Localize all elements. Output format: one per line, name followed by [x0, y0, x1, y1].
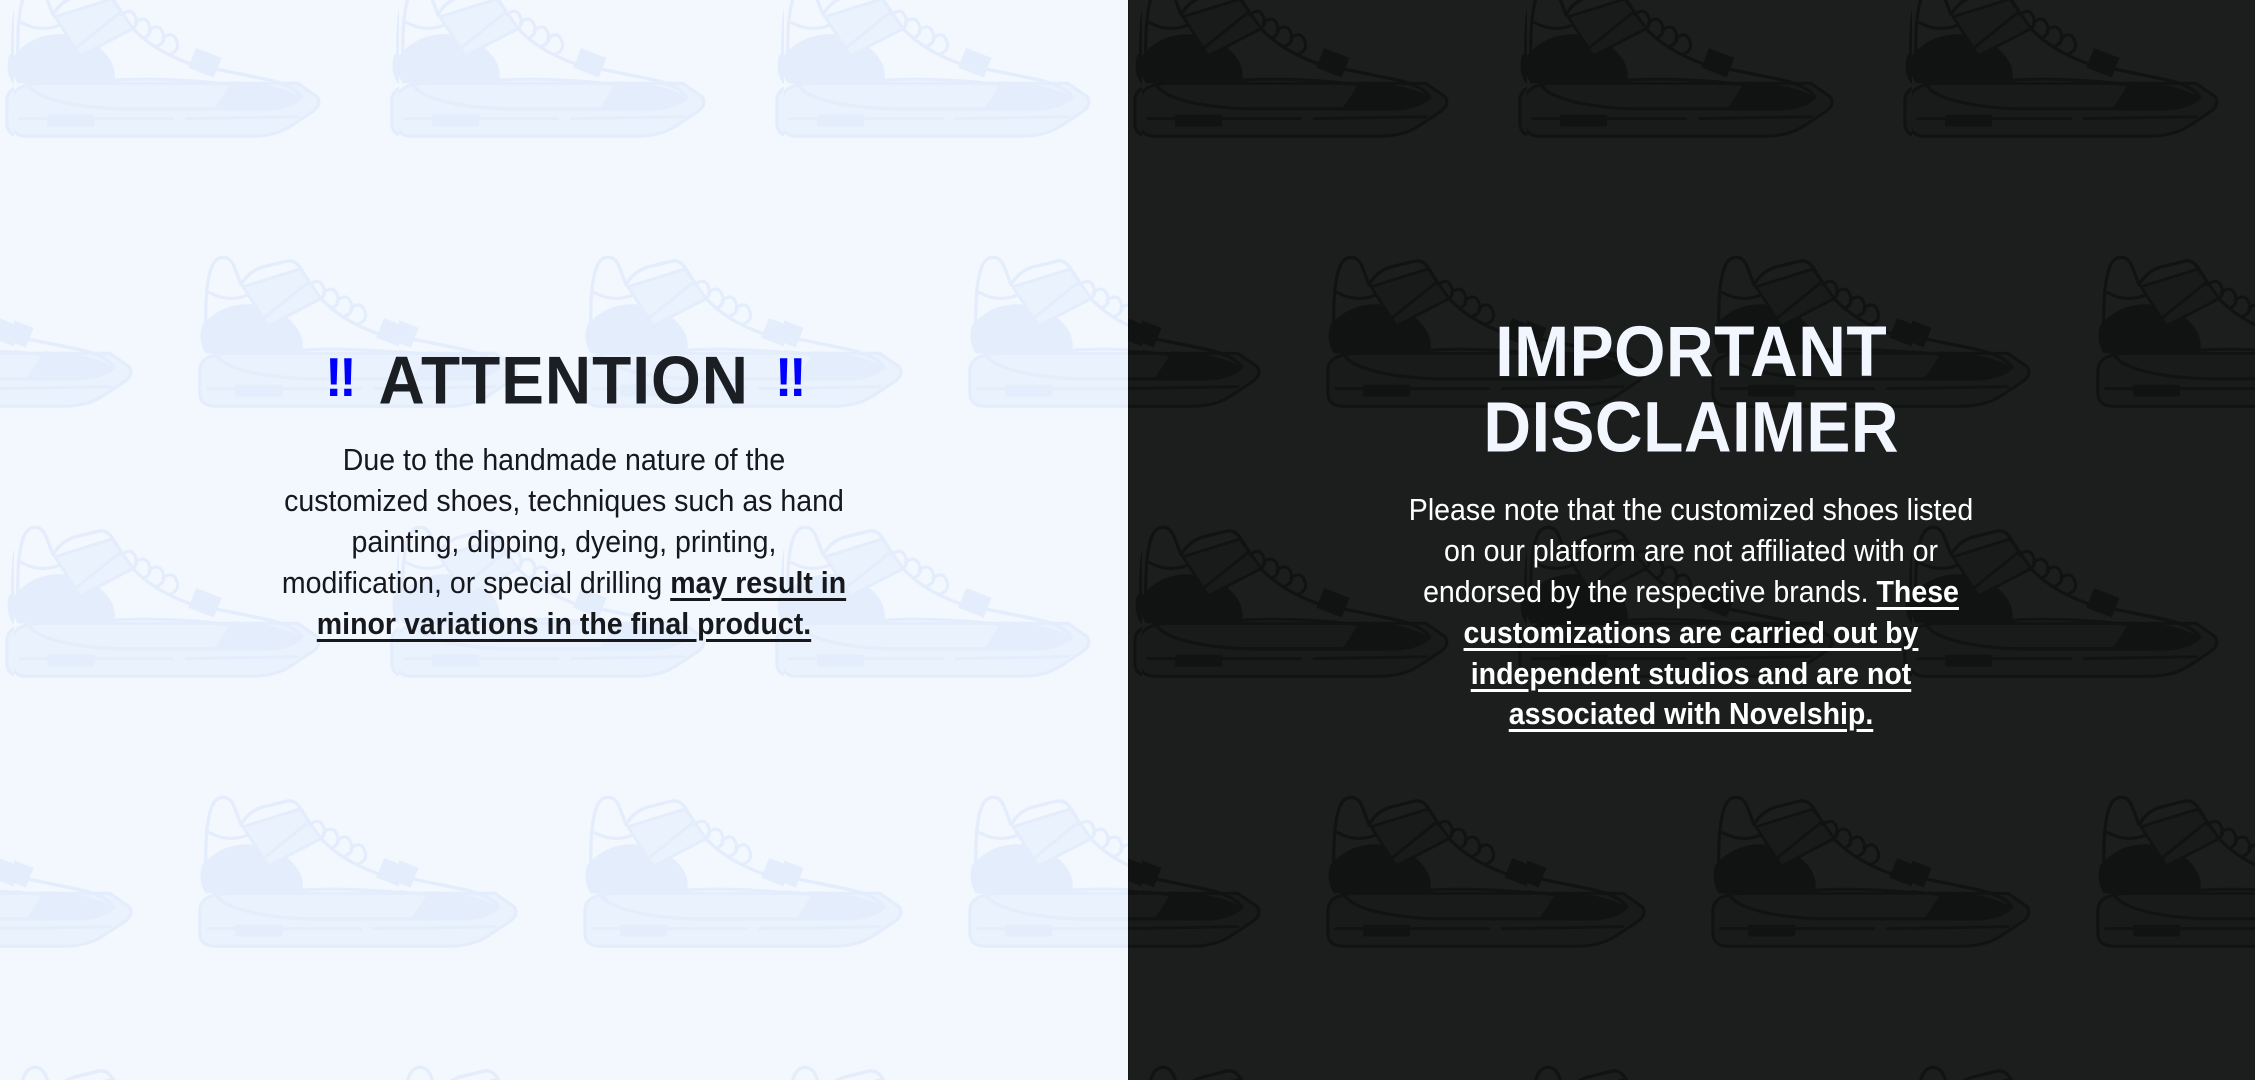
disclaimer-heading-line2: DISCLAIMER: [1483, 387, 1899, 467]
disclaimer-content: IMPORTANTDISCLAIMER Please note that the…: [1128, 0, 2255, 1080]
attention-panel: ‼ ATTENTION ‼ Due to the handmade nature…: [0, 0, 1128, 1080]
double-exclamation-icon-right: ‼: [775, 350, 802, 405]
disclaimer-heading-line1: IMPORTANT: [1495, 311, 1887, 391]
double-exclamation-icon-left: ‼: [325, 350, 352, 405]
attention-heading-label: ATTENTION: [379, 346, 749, 414]
important-disclaimer-panel: IMPORTANTDISCLAIMER Please note that the…: [1128, 0, 2255, 1080]
disclaimer-body: Please note that the customized shoes li…: [1397, 460, 1986, 735]
attention-content: ‼ ATTENTION ‼ Due to the handmade nature…: [0, 0, 1128, 1080]
disclaimer-heading: IMPORTANTDISCLAIMER: [1483, 314, 1899, 465]
attention-heading: ‼ ATTENTION ‼: [325, 346, 802, 414]
attention-body: Due to the handmade nature of the custom…: [279, 412, 849, 645]
dual-panel-notice: ‼ ATTENTION ‼ Due to the handmade nature…: [0, 0, 2255, 1080]
